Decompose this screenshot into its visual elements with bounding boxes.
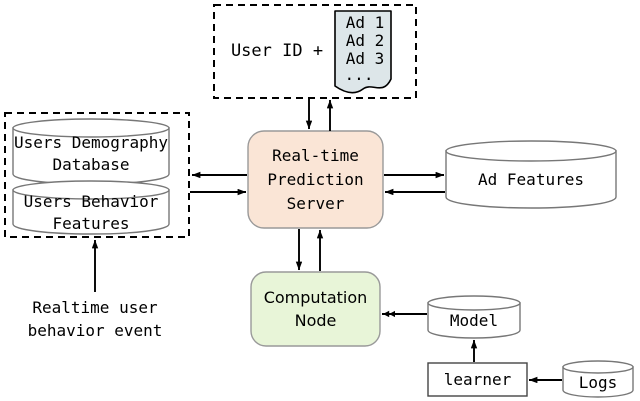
ad-document-shape <box>335 11 391 93</box>
learner-shape <box>428 363 527 396</box>
users-behavior-features-shape <box>13 181 169 234</box>
users-demography-database-shape <box>13 119 169 184</box>
realtime-prediction-server-shape <box>248 131 383 228</box>
model-shape <box>428 296 520 338</box>
computation-node-shape <box>251 272 380 346</box>
logs-shape <box>563 361 633 397</box>
ad-features-shape <box>446 141 616 208</box>
diagram-canvas <box>0 0 640 401</box>
architecture-diagram: User ID + Ad 1 Ad 2 Ad 3 ... Users Demog… <box>0 0 640 401</box>
